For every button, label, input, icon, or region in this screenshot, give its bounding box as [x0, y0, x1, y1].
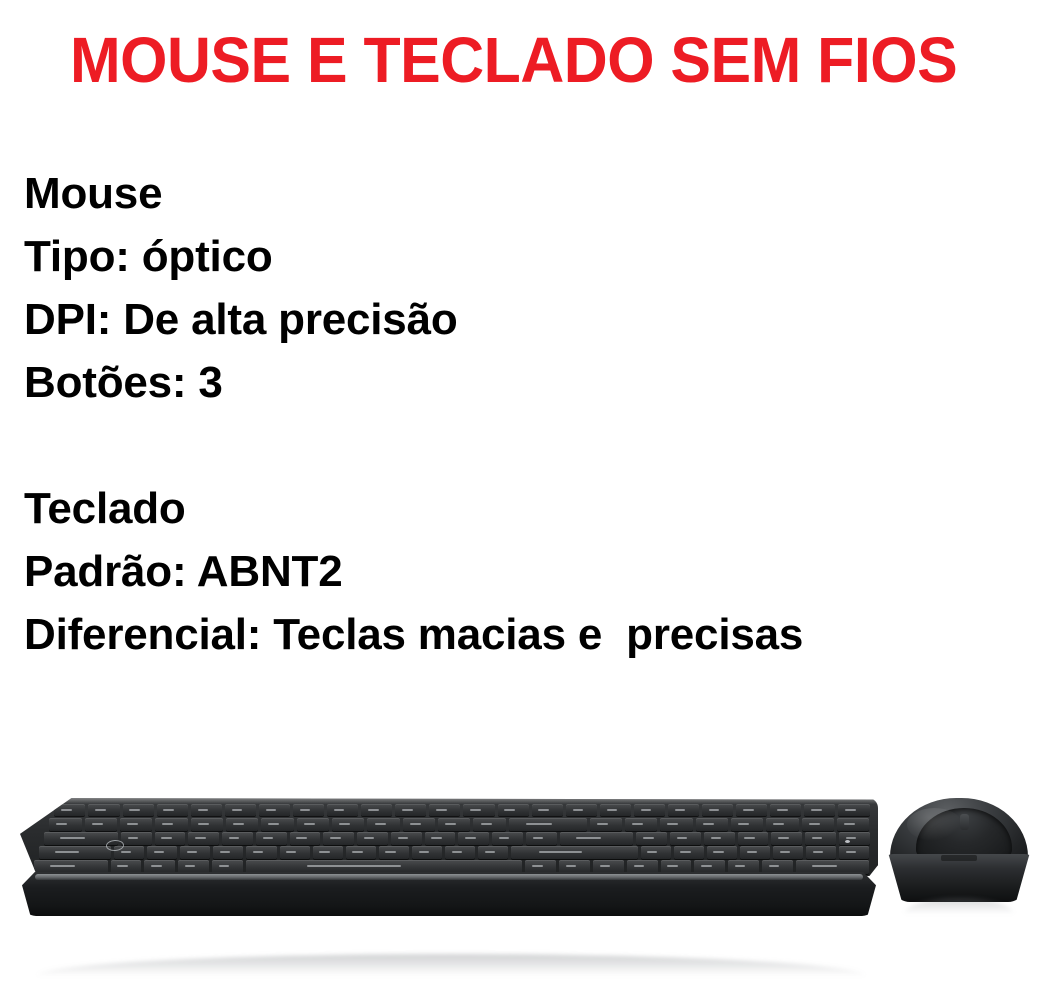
keyboard-row-qwerty	[44, 832, 869, 845]
wireless-keyboard-image	[20, 798, 878, 920]
mouse-button-area	[916, 808, 1012, 860]
mouse-spec-dpi: DPI: De alta precisão	[24, 288, 1004, 351]
keyboard-status-led-icon	[845, 840, 850, 843]
product-photo	[0, 760, 1049, 1000]
specs-block: Mouse Tipo: óptico DPI: De alta precisão…	[24, 162, 1004, 666]
section-spacer	[24, 414, 1004, 477]
keyboard-section-heading: Teclado	[24, 477, 1004, 540]
keyboard-row-bottom	[34, 860, 870, 874]
slide-canvas: MOUSE E TECLADO SEM FIOS Mouse Tipo: ópt…	[0, 0, 1049, 1000]
mouse-spec-botoes: Botões: 3	[24, 351, 1004, 414]
keyboard-reflection	[36, 954, 866, 976]
keyboard-deck	[20, 798, 878, 876]
keyboard-row-function	[54, 804, 869, 816]
mouse-base	[884, 854, 1034, 902]
keyboard-spec-padrao: Padrão: ABNT2	[24, 540, 1004, 603]
keyboard-row-home	[39, 846, 870, 859]
keyboard-key-rows	[20, 798, 878, 876]
keyboard-row-numbers	[49, 818, 869, 831]
wireless-mouse-image	[884, 798, 1034, 906]
page-title: MOUSE E TECLADO SEM FIOS	[70, 26, 944, 94]
mouse-spec-tipo: Tipo: óptico	[24, 225, 1004, 288]
keyboard-spec-diferencial: Diferencial: Teclas macias e precisas	[24, 603, 1004, 666]
keyboard-front-edge	[22, 872, 876, 916]
mouse-scroll-wheel-icon	[960, 814, 969, 830]
mouse-section-heading: Mouse	[24, 162, 1004, 225]
